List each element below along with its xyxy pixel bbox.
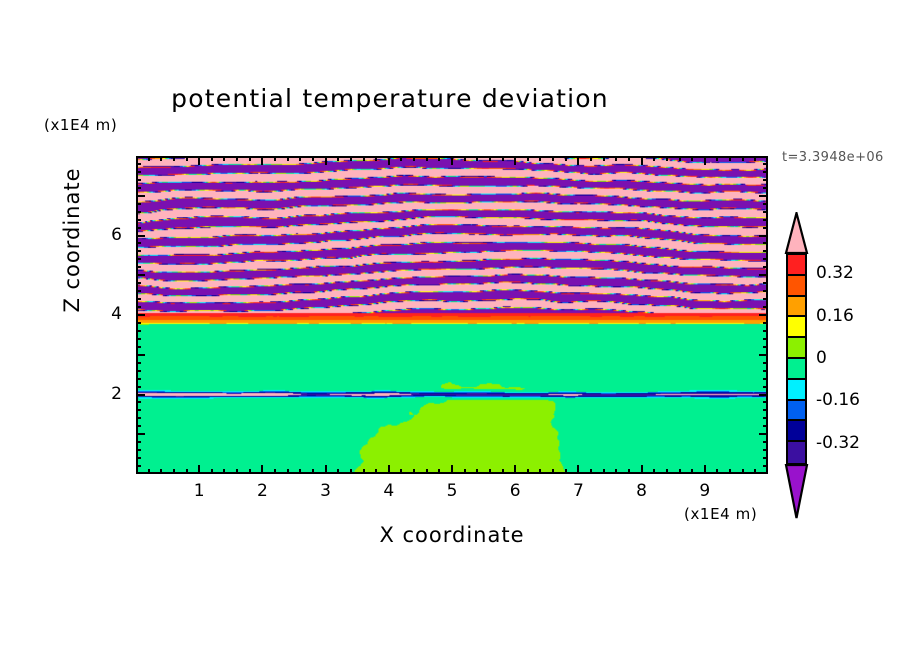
x-axis-tick — [590, 156, 592, 161]
x-axis-tick — [400, 156, 402, 161]
x-axis-tick — [451, 156, 453, 165]
y-axis-tick — [136, 370, 141, 372]
x-axis-tick — [438, 156, 440, 161]
x-axis-tick — [628, 469, 630, 474]
x-axis-tick — [502, 469, 504, 474]
x-axis-tick — [325, 156, 327, 165]
timestamp-label: t=3.3948e+06 — [782, 150, 884, 165]
y-axis-tick — [136, 441, 141, 443]
x-axis-tick — [287, 469, 289, 474]
x-axis-tick — [489, 156, 491, 161]
colorbar-under-range-cap — [784, 464, 809, 519]
y-axis-tick — [763, 203, 768, 205]
y-axis-tick — [136, 330, 141, 332]
y-axis-tick — [136, 417, 141, 419]
colorbar-swatch — [788, 442, 805, 463]
y-axis-tick — [136, 242, 141, 244]
x-axis-tick — [413, 156, 415, 161]
y-axis-tick — [136, 401, 141, 403]
y-axis-tick — [763, 242, 768, 244]
colorbar-swatch — [788, 401, 805, 422]
x-axis-tick — [299, 156, 301, 161]
x-axis-tick — [274, 469, 276, 474]
x-axis-tick — [438, 469, 440, 474]
y-axis-tick — [136, 425, 141, 427]
temperature-deviation-field — [138, 158, 766, 472]
y-axis-tick-label: 6 — [96, 225, 122, 245]
x-axis-tick — [514, 465, 516, 474]
colorbar-swatch — [788, 276, 805, 297]
page-title: potential temperature deviation — [0, 84, 780, 113]
x-axis-tick — [160, 156, 162, 161]
y-axis-tick — [763, 211, 768, 213]
x-axis-tick — [198, 465, 200, 474]
y-axis-tick — [136, 449, 141, 451]
x-axis-tick — [325, 465, 327, 474]
y-axis-tick — [136, 258, 141, 260]
x-axis-tick — [527, 469, 529, 474]
x-axis-tick — [653, 469, 655, 474]
x-axis-tick — [363, 469, 365, 474]
x-axis-tick — [388, 156, 390, 165]
colorbar-swatch — [788, 255, 805, 276]
colorbar-tick-label: 0.32 — [816, 263, 854, 283]
y-axis-tick — [763, 187, 768, 189]
x-axis-tick-label: 7 — [563, 481, 593, 501]
x-axis-tick — [388, 465, 390, 474]
z-axis-unit-label: (x1E4 m) — [44, 116, 117, 134]
x-axis-tick — [539, 469, 541, 474]
x-axis-tick — [704, 465, 706, 474]
y-axis-tick — [136, 203, 141, 205]
x-axis-tick — [249, 469, 251, 474]
x-axis-unit-label: (x1E4 m) — [684, 505, 757, 523]
colorbar-swatch — [788, 317, 805, 338]
y-axis-tick — [136, 298, 141, 300]
y-axis-tick — [136, 354, 145, 356]
y-axis-tick — [763, 441, 768, 443]
x-axis-tick — [679, 156, 681, 161]
colorbar-swatch — [788, 297, 805, 318]
y-axis-tick — [136, 290, 141, 292]
x-axis-tick — [691, 156, 693, 161]
y-axis-tick — [763, 401, 768, 403]
x-axis-tick — [173, 469, 175, 474]
colorbar — [786, 253, 807, 465]
y-axis-tick — [763, 449, 768, 451]
y-axis-tick — [136, 386, 141, 388]
x-axis-tick — [641, 465, 643, 474]
y-axis-tick — [763, 386, 768, 388]
x-axis-tick — [223, 156, 225, 161]
y-axis-tick — [763, 250, 768, 252]
y-axis-tick — [763, 378, 768, 380]
x-axis-tick — [489, 469, 491, 474]
x-axis-tick — [375, 469, 377, 474]
x-axis-tick-label: 3 — [311, 481, 341, 501]
x-axis-tick — [350, 469, 352, 474]
x-axis-tick — [729, 156, 731, 161]
x-axis-tick — [565, 156, 567, 161]
y-axis-tick — [136, 338, 141, 340]
x-axis-tick — [160, 469, 162, 474]
colorbar-tick-label: 0 — [816, 348, 827, 368]
x-axis-tick — [666, 469, 668, 474]
y-axis-tick — [763, 298, 768, 300]
y-axis-tick — [136, 322, 141, 324]
x-axis-tick — [375, 156, 377, 161]
y-axis-tick — [763, 219, 768, 221]
y-axis-tick — [136, 457, 141, 459]
y-axis-tick — [136, 227, 141, 229]
x-axis-tick — [249, 156, 251, 161]
x-axis-tick-label: 4 — [374, 481, 404, 501]
x-axis-tick — [211, 469, 213, 474]
x-axis-tick — [287, 156, 289, 161]
y-axis-tick — [136, 306, 141, 308]
y-axis-tick — [136, 465, 141, 467]
y-axis-tick — [763, 163, 768, 165]
colorbar-tick-label: -0.32 — [816, 433, 860, 453]
x-axis-tick — [186, 156, 188, 161]
y-axis-tick — [136, 433, 145, 435]
x-axis-tick — [464, 469, 466, 474]
y-axis-tick — [763, 457, 768, 459]
y-axis-tick — [763, 227, 768, 229]
y-axis-tick — [763, 338, 768, 340]
x-axis-tick — [615, 469, 617, 474]
colorbar-swatch — [788, 421, 805, 442]
contour-plot-area — [136, 156, 768, 474]
x-axis-tick — [653, 156, 655, 161]
x-axis-tick-label: 6 — [500, 481, 530, 501]
y-axis-tick — [759, 433, 768, 435]
x-axis-title: X coordinate — [136, 523, 768, 547]
colorbar-swatch — [788, 338, 805, 359]
x-axis-tick-label: 8 — [627, 481, 657, 501]
x-axis-tick — [186, 469, 188, 474]
x-axis-tick — [173, 156, 175, 161]
x-axis-tick — [552, 469, 554, 474]
x-axis-tick — [476, 469, 478, 474]
x-axis-tick — [261, 156, 263, 165]
x-axis-tick — [691, 469, 693, 474]
x-axis-tick — [426, 469, 428, 474]
y-axis-tick — [763, 179, 768, 181]
x-axis-tick — [261, 465, 263, 474]
x-axis-tick — [679, 469, 681, 474]
x-axis-tick — [552, 156, 554, 161]
y-axis-tick — [136, 409, 141, 411]
x-axis-tick — [426, 156, 428, 161]
x-axis-tick — [236, 469, 238, 474]
x-axis-tick — [742, 469, 744, 474]
x-axis-tick — [363, 156, 365, 161]
x-axis-tick — [716, 469, 718, 474]
y-axis-tick — [763, 258, 768, 260]
y-axis-tick — [759, 394, 768, 396]
x-axis-tick — [603, 469, 605, 474]
y-axis-tick — [136, 274, 145, 276]
colorbar-tick-label: 0.16 — [816, 306, 854, 326]
y-axis-tick — [136, 211, 141, 213]
figure-root: potential temperature deviation t=3.3948… — [0, 0, 904, 654]
x-axis-tick — [704, 156, 706, 165]
y-axis-tick — [763, 409, 768, 411]
y-axis-tick — [763, 330, 768, 332]
x-axis-tick — [400, 469, 402, 474]
x-axis-tick — [716, 156, 718, 161]
y-axis-tick — [763, 370, 768, 372]
y-axis-tick — [136, 250, 141, 252]
x-axis-tick — [754, 469, 756, 474]
x-axis-tick — [312, 156, 314, 161]
x-axis-tick — [590, 469, 592, 474]
y-axis-tick — [763, 290, 768, 292]
y-axis-tick — [136, 378, 141, 380]
y-axis-tick — [136, 235, 145, 237]
x-axis-tick — [729, 469, 731, 474]
x-axis-tick — [337, 156, 339, 161]
y-axis-tick — [136, 187, 141, 189]
y-axis-tick — [759, 195, 768, 197]
x-axis-tick — [527, 156, 529, 161]
y-axis-tick — [763, 282, 768, 284]
x-axis-tick — [514, 156, 516, 165]
x-axis-tick — [274, 156, 276, 161]
x-axis-tick — [236, 156, 238, 161]
x-axis-tick — [577, 156, 579, 165]
x-axis-tick — [337, 469, 339, 474]
x-axis-tick — [223, 469, 225, 474]
colorbar-over-range-cap — [784, 212, 809, 254]
colorbar-swatch — [788, 380, 805, 401]
x-axis-tick — [615, 156, 617, 161]
y-axis-tick — [136, 171, 141, 173]
y-axis-tick — [763, 171, 768, 173]
y-axis-tick — [763, 417, 768, 419]
colorbar-swatch — [788, 359, 805, 380]
x-axis-tick-label: 5 — [437, 481, 467, 501]
y-axis-tick — [763, 322, 768, 324]
x-axis-tick — [148, 469, 150, 474]
y-axis-tick — [763, 362, 768, 364]
y-axis-tick — [759, 274, 768, 276]
y-axis-tick — [136, 362, 141, 364]
y-axis-tick — [136, 314, 145, 316]
x-axis-tick — [565, 469, 567, 474]
x-axis-tick-label: 9 — [690, 481, 720, 501]
x-axis-tick — [577, 465, 579, 474]
colorbar-tick-label: -0.16 — [816, 390, 860, 410]
x-axis-tick — [603, 156, 605, 161]
y-axis-tick — [763, 465, 768, 467]
y-axis-title: Z coordinate — [60, 160, 84, 320]
x-axis-tick-label: 2 — [247, 481, 277, 501]
x-axis-tick-label: 1 — [184, 481, 214, 501]
y-axis-tick — [136, 179, 141, 181]
y-axis-tick — [136, 266, 141, 268]
x-axis-tick — [451, 465, 453, 474]
y-axis-tick — [763, 306, 768, 308]
y-axis-tick-label: 4 — [96, 304, 122, 324]
x-axis-tick — [502, 156, 504, 161]
x-axis-tick — [666, 156, 668, 161]
y-axis-tick — [136, 195, 145, 197]
y-axis-tick — [136, 163, 141, 165]
y-axis-tick — [763, 266, 768, 268]
y-axis-tick — [136, 219, 141, 221]
x-axis-tick — [211, 156, 213, 161]
y-axis-tick — [759, 235, 768, 237]
y-axis-tick — [136, 282, 141, 284]
y-axis-tick — [763, 425, 768, 427]
x-axis-tick — [413, 469, 415, 474]
x-axis-tick — [464, 156, 466, 161]
y-axis-tick — [759, 314, 768, 316]
x-axis-tick — [476, 156, 478, 161]
x-axis-tick — [198, 156, 200, 165]
x-axis-tick — [742, 156, 744, 161]
y-axis-tick — [136, 346, 141, 348]
x-axis-tick — [148, 156, 150, 161]
x-axis-tick — [641, 156, 643, 165]
y-axis-tick — [759, 354, 768, 356]
x-axis-tick — [754, 156, 756, 161]
x-axis-tick — [299, 469, 301, 474]
y-axis-tick — [763, 346, 768, 348]
y-axis-tick — [136, 394, 145, 396]
x-axis-tick — [312, 469, 314, 474]
x-axis-tick — [350, 156, 352, 161]
x-axis-tick — [628, 156, 630, 161]
x-axis-tick — [539, 156, 541, 161]
y-axis-tick-label: 2 — [96, 384, 122, 404]
